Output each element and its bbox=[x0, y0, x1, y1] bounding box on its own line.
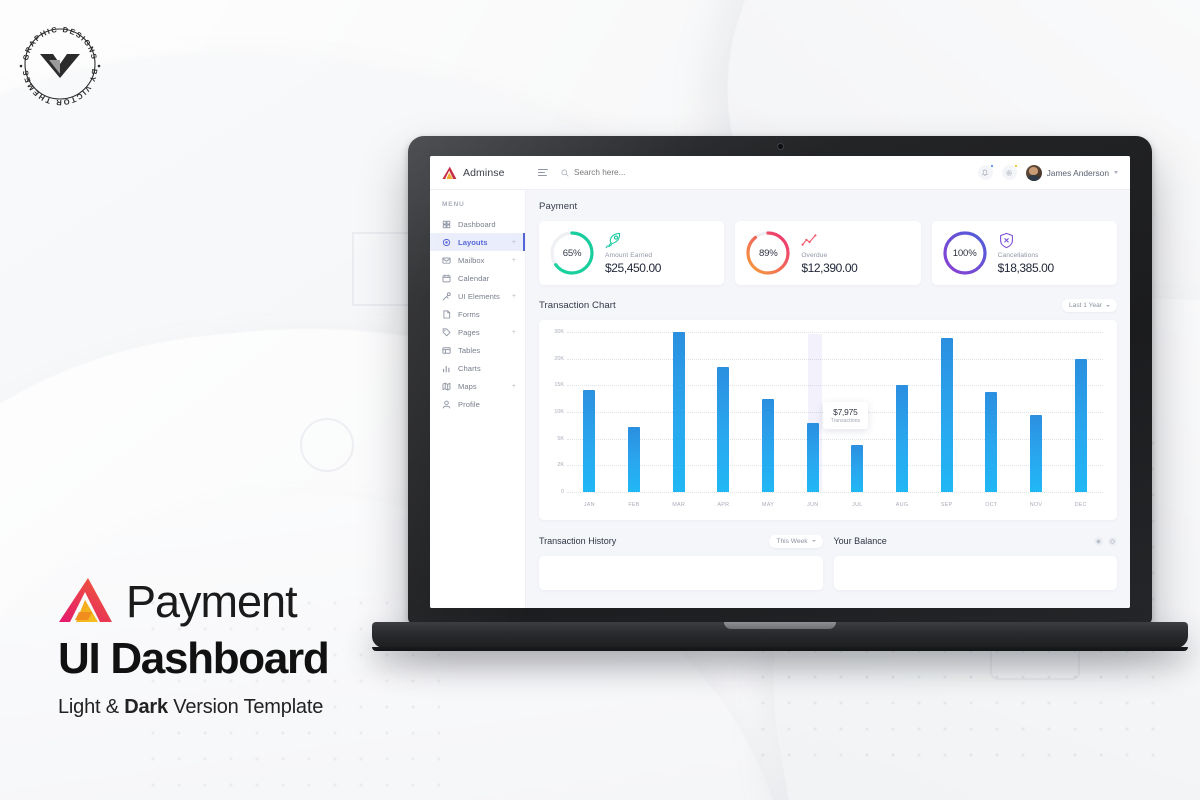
bar-jul[interactable] bbox=[851, 445, 863, 492]
laptop-lid: Adminse bbox=[408, 136, 1152, 624]
sidebar-item-label: Maps bbox=[458, 382, 505, 391]
wand-icon bbox=[442, 292, 451, 301]
x-axis-tick: DEC bbox=[1058, 502, 1103, 508]
sidebar-item-dashboard[interactable]: Dashboard bbox=[430, 215, 525, 233]
rocket-icon bbox=[605, 232, 622, 249]
history-title: Transaction History bbox=[539, 536, 616, 546]
payment-logo-mark bbox=[58, 576, 114, 628]
y-axis-tick: 10K bbox=[554, 409, 564, 415]
topbar-left bbox=[526, 168, 978, 177]
promo-block: Payment UI Dashboard Light & Dark Versio… bbox=[58, 576, 398, 719]
history-range-label: This Week bbox=[776, 538, 807, 545]
transaction-history-card: Transaction History This Week bbox=[539, 533, 823, 590]
dashboard-app: Adminse bbox=[430, 156, 1130, 608]
bar-jan[interactable] bbox=[583, 390, 595, 492]
bar-may[interactable] bbox=[762, 399, 774, 492]
bar-column bbox=[701, 332, 746, 492]
x-axis-tick: JAN bbox=[567, 502, 612, 508]
expand-icon[interactable]: + bbox=[512, 239, 516, 246]
y-axis-tick: 20K bbox=[554, 356, 564, 362]
victor-themes-badge: GRAPHIC DESIGNS BY VICTOR THEMES bbox=[8, 12, 112, 116]
bar-dec[interactable] bbox=[1075, 359, 1087, 492]
promo-sub-a: Light & bbox=[58, 696, 124, 718]
map-icon bbox=[442, 382, 451, 391]
y-axis: 30K20K15K10K5K2K0 bbox=[545, 332, 567, 514]
balance-title: Your Balance bbox=[834, 536, 887, 546]
sidebar-item-label: Forms bbox=[458, 310, 516, 319]
chart-header: Transaction Chart Last 1 Year bbox=[539, 299, 1117, 312]
grid-icon bbox=[442, 220, 451, 229]
sidebar-item-label: Mailbox bbox=[458, 256, 505, 265]
bar-column bbox=[1058, 332, 1103, 492]
chevron-down-icon bbox=[1114, 171, 1118, 174]
sidebar-item-label: Charts bbox=[458, 364, 516, 373]
chart-grid: JANFEBMARAPRMAYJUNJULAUGSEPOCTNOVDEC $7,… bbox=[567, 332, 1107, 514]
stat-card: 100% Cancellations $18,385.00 bbox=[932, 221, 1117, 285]
calendar-icon bbox=[442, 274, 451, 283]
y-axis-tick: 5K bbox=[557, 436, 564, 442]
expand-icon[interactable]: + bbox=[512, 257, 516, 264]
layers-icon bbox=[442, 238, 451, 247]
app-brand[interactable]: Adminse bbox=[430, 166, 526, 180]
app-body: MENU Dashboard Layouts + Mailbox + Calen… bbox=[430, 190, 1130, 608]
sidebar-item-tables[interactable]: Tables bbox=[430, 341, 525, 359]
history-header: Transaction History This Week bbox=[539, 533, 823, 549]
x-axis-tick: SEP bbox=[924, 502, 969, 508]
adminse-logo-icon bbox=[442, 166, 457, 180]
sidebar-item-layouts[interactable]: Layouts + bbox=[430, 233, 525, 251]
sidebar-item-label: Pages bbox=[458, 328, 505, 337]
y-axis-tick: 15K bbox=[554, 382, 564, 388]
stat-value: $18,385.00 bbox=[998, 261, 1107, 275]
payment-logo-text: Payment bbox=[126, 576, 297, 628]
sidebar-item-charts[interactable]: Charts bbox=[430, 359, 525, 377]
bar-column bbox=[612, 332, 657, 492]
stat-info: Amount Earned $25,450.00 bbox=[605, 232, 714, 275]
bar-chart-icon bbox=[442, 364, 451, 373]
bar-apr[interactable] bbox=[717, 367, 729, 492]
bar-column bbox=[880, 332, 925, 492]
history-body bbox=[539, 556, 823, 590]
sidebar-item-ui-elements[interactable]: UI Elements + bbox=[430, 287, 525, 305]
search-icon bbox=[561, 169, 569, 177]
chart-range-label: Last 1 Year bbox=[1069, 302, 1102, 309]
progress-ring: 65% bbox=[549, 230, 595, 276]
promo-subtitle: Light & Dark Version Template bbox=[58, 696, 398, 719]
sidebar-item-mailbox[interactable]: Mailbox + bbox=[430, 251, 525, 269]
stat-cards: 65% Amount Earned $25,450.00 89% Overdue… bbox=[539, 221, 1117, 285]
user-icon bbox=[442, 400, 451, 409]
x-axis-tick: NOV bbox=[1014, 502, 1059, 508]
x-axis-tick: FEB bbox=[612, 502, 657, 508]
bar-jun[interactable] bbox=[807, 423, 819, 492]
trend-up-icon bbox=[801, 232, 818, 249]
laptop-mockup: Adminse bbox=[372, 136, 1188, 648]
sidebar-item-label: Profile bbox=[458, 400, 516, 409]
menu-toggle-icon[interactable] bbox=[538, 169, 548, 177]
shield-x-icon bbox=[998, 232, 1015, 249]
y-axis-tick: 2K bbox=[557, 462, 564, 468]
avatar bbox=[1026, 165, 1042, 181]
tag-icon bbox=[442, 328, 451, 337]
sidebar-item-label: Layouts bbox=[458, 238, 505, 247]
sidebar-item-profile[interactable]: Profile bbox=[430, 395, 525, 413]
chart-tooltip: $7,975 Transactions bbox=[823, 402, 869, 429]
bg-shape-circle bbox=[300, 418, 354, 472]
bar-mar[interactable] bbox=[673, 332, 685, 492]
mail-icon bbox=[442, 256, 451, 265]
bottom-row: Transaction History This Week bbox=[539, 533, 1117, 590]
sidebar-item-pages[interactable]: Pages + bbox=[430, 323, 525, 341]
x-axis-tick: JUL bbox=[835, 502, 880, 508]
sidebar-menu-label: MENU bbox=[430, 201, 525, 215]
laptop-foot bbox=[372, 647, 1188, 651]
transaction-chart-card: 30K20K15K10K5K2K0 bbox=[539, 320, 1117, 520]
sidebar-item-forms[interactable]: Forms bbox=[430, 305, 525, 323]
laptop-notch bbox=[724, 622, 836, 629]
stat-info: Overdue $12,390.00 bbox=[801, 232, 910, 275]
expand-icon[interactable]: + bbox=[512, 329, 516, 336]
stat-label: Cancellations bbox=[998, 252, 1107, 259]
your-balance-card: Your Balance bbox=[834, 533, 1118, 590]
progress-percent: 89% bbox=[745, 230, 791, 276]
brand-name: Adminse bbox=[463, 167, 505, 179]
chevron-down-icon bbox=[1106, 305, 1110, 307]
progress-percent: 65% bbox=[549, 230, 595, 276]
bar-column bbox=[656, 332, 701, 492]
chevron-down-icon bbox=[812, 540, 816, 542]
sidebar: MENU Dashboard Layouts + Mailbox + Calen… bbox=[430, 190, 526, 608]
tooltip-value: $7,975 bbox=[831, 407, 861, 417]
bar-feb[interactable] bbox=[628, 427, 640, 492]
chart-plot: 30K20K15K10K5K2K0 bbox=[545, 332, 1107, 514]
history-range-dropdown[interactable]: This Week bbox=[769, 535, 822, 548]
table-icon bbox=[442, 346, 451, 355]
y-axis-tick: 30K bbox=[554, 329, 564, 335]
bar-sep[interactable] bbox=[941, 338, 953, 492]
balance-actions bbox=[1094, 537, 1117, 546]
webcam-icon bbox=[778, 144, 783, 149]
x-axis-tick: MAR bbox=[656, 502, 701, 508]
bar-column bbox=[567, 332, 612, 492]
promo-headline: UI Dashboard bbox=[58, 636, 398, 682]
stat-value: $25,450.00 bbox=[605, 261, 714, 275]
x-axis-tick: OCT bbox=[969, 502, 1014, 508]
y-axis-tick: 0 bbox=[561, 489, 564, 495]
stat-value: $12,390.00 bbox=[801, 261, 910, 275]
search-input[interactable] bbox=[574, 168, 660, 177]
gear-icon bbox=[1005, 169, 1013, 177]
sidebar-item-label: UI Elements bbox=[458, 292, 505, 301]
bar-column bbox=[1014, 332, 1059, 492]
topbar-right: James Anderson bbox=[978, 165, 1130, 181]
x-axis-labels: JANFEBMARAPRMAYJUNJULAUGSEPOCTNOVDEC bbox=[567, 502, 1103, 508]
user-menu[interactable]: James Anderson bbox=[1026, 165, 1118, 181]
main-content: Payment 65% Amount Earned $25,450.00 bbox=[526, 190, 1130, 608]
stat-info: Cancellations $18,385.00 bbox=[998, 232, 1107, 275]
x-axis-tick: MAY bbox=[746, 502, 791, 508]
x-axis-tick: JUN bbox=[790, 502, 835, 508]
stat-label: Amount Earned bbox=[605, 252, 714, 259]
notification-badge bbox=[990, 164, 994, 168]
laptop-base bbox=[372, 622, 1188, 648]
gridline bbox=[567, 492, 1103, 493]
sidebar-item-label: Dashboard bbox=[458, 220, 516, 229]
balance-header: Your Balance bbox=[834, 533, 1118, 549]
user-name: James Anderson bbox=[1047, 168, 1109, 178]
promo-sub-b: Dark bbox=[124, 696, 168, 718]
clock-icon bbox=[1110, 539, 1115, 544]
bar-oct[interactable] bbox=[985, 392, 997, 492]
topbar: Adminse bbox=[430, 156, 1130, 190]
bar-nov[interactable] bbox=[1030, 415, 1042, 492]
notifications-button[interactable] bbox=[978, 165, 993, 180]
bar-column bbox=[746, 332, 791, 492]
search-box[interactable] bbox=[561, 168, 660, 177]
x-axis-tick: APR bbox=[701, 502, 746, 508]
page-title: Payment bbox=[539, 201, 1117, 212]
balance-refresh-button[interactable] bbox=[1094, 537, 1103, 546]
expand-icon[interactable]: + bbox=[512, 383, 516, 390]
file-icon bbox=[442, 310, 451, 319]
bar-aug[interactable] bbox=[896, 385, 908, 492]
settings-button[interactable] bbox=[1002, 165, 1017, 180]
balance-more-button[interactable] bbox=[1108, 537, 1117, 546]
bar-column bbox=[924, 332, 969, 492]
x-axis-tick: AUG bbox=[880, 502, 925, 508]
sidebar-item-calendar[interactable]: Calendar bbox=[430, 269, 525, 287]
stat-card: 89% Overdue $12,390.00 bbox=[735, 221, 920, 285]
stat-label: Overdue bbox=[801, 252, 910, 259]
sidebar-item-maps[interactable]: Maps + bbox=[430, 377, 525, 395]
sidebar-item-label: Calendar bbox=[458, 274, 516, 283]
laptop-screen: Adminse bbox=[430, 156, 1130, 608]
progress-ring: 100% bbox=[942, 230, 988, 276]
payment-logo: Payment bbox=[58, 576, 398, 628]
balance-body bbox=[834, 556, 1118, 590]
bell-icon bbox=[981, 169, 989, 177]
progress-ring: 89% bbox=[745, 230, 791, 276]
sidebar-item-label: Tables bbox=[458, 346, 516, 355]
tooltip-label: Transactions bbox=[831, 418, 861, 424]
chart-range-dropdown[interactable]: Last 1 Year bbox=[1062, 299, 1117, 312]
expand-icon[interactable]: + bbox=[512, 293, 516, 300]
settings-badge bbox=[1014, 164, 1018, 168]
svg-text:GRAPHIC DESIGNS: GRAPHIC DESIGNS bbox=[21, 25, 99, 61]
promo-sub-c: Version Template bbox=[168, 696, 323, 718]
circle-icon bbox=[1096, 539, 1101, 544]
bar-column bbox=[969, 332, 1014, 492]
stat-card: 65% Amount Earned $25,450.00 bbox=[539, 221, 724, 285]
progress-percent: 100% bbox=[942, 230, 988, 276]
chart-title: Transaction Chart bbox=[539, 300, 616, 311]
